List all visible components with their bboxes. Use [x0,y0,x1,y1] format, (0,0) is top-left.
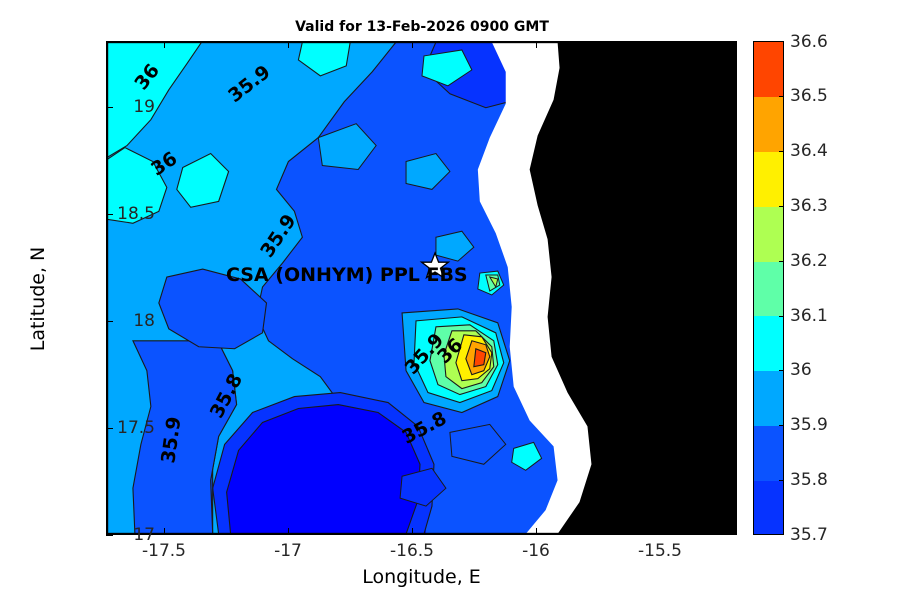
colorbar-tick-label: 36.2 [790,251,828,271]
colorbar-tick-label: 36.4 [790,141,828,161]
colorbar-tick-label: 35.9 [790,415,828,435]
colorbar-tick-mark [779,261,784,262]
colorbar-band-36_1-36_2 [754,262,783,317]
colorbar-tick-mark [779,206,784,207]
ytick-mark-right [730,321,737,322]
xtick-mark-top [536,41,537,48]
colorbar-tick-mark [779,480,784,481]
xtick-mark-top [164,41,165,48]
contour-plot-area[interactable]: 36 35.9 36 35.9 35.9 36 35.9 35.8 35.8 C… [106,41,737,535]
colorbar-tick-label: 36.6 [790,32,828,52]
xtick-label: -16 [522,541,550,561]
y-axis-title: Latitude, N [27,199,49,399]
ytick-mark-right [730,214,737,215]
ytick-label: 19 [133,97,155,117]
colorbar-band-36_3-36_4 [754,152,783,207]
x-axis-title: Longitude, E [106,566,737,588]
colorbar-band-36_5-36_6 [754,42,783,97]
figure-canvas: Valid for 13-Feb-2026 0900 GMT [0,0,900,600]
ytick-label: 18 [133,311,155,331]
xtick-mark [288,528,289,535]
colorbar-tick-mark [779,96,784,97]
fan-band-36_5 [474,349,486,367]
ytick-mark [106,214,113,215]
colorbar-tick-mark [779,425,784,426]
colorbar-band-35_9-36_0 [754,371,783,426]
xtick-mark-top [288,41,289,48]
colorbar-tick-mark [779,316,784,317]
xtick-mark [164,528,165,535]
ytick-mark [106,428,113,429]
xtick-label: -15.5 [638,541,682,561]
colorbar-tick-label: 36.3 [790,196,828,216]
ytick-mark-right [730,428,737,429]
colorbar[interactable] [753,41,784,535]
colorbar-tick-mark [779,151,784,152]
ytick-label: 17 [133,525,155,545]
ytick-mark-right [730,107,737,108]
ytick-mark [106,535,113,536]
colorbar-band-36_0-36_1 [754,316,783,371]
colorbar-band-35_8-35_9 [754,426,783,481]
contour-band-35_7-sw-base [227,492,426,534]
ytick-mark [106,107,113,108]
colorbar-tick-label: 36.5 [790,86,828,106]
colorbar-band-36_2-36_3 [754,207,783,262]
xtick-mark [660,528,661,535]
colorbar-band-36_4-36_5 [754,97,783,152]
xtick-mark [412,528,413,535]
colorbar-tick-label: 36 [790,360,812,380]
colorbar-tick-label: 36.1 [790,306,828,326]
contour-map-svg [107,42,736,534]
colorbar-tick-label: 35.7 [790,525,828,545]
ytick-label: 17.5 [117,418,155,438]
ytick-label: 18.5 [117,204,155,224]
colorbar-band-35_7-35_8 [754,481,783,535]
xtick-label: -16.5 [390,541,434,561]
station-label: CSA (ONHYM) PPL EBS [226,264,468,286]
colorbar-tick-mark [779,370,784,371]
ytick-mark [106,321,113,322]
xtick-mark-top [412,41,413,48]
xtick-mark-top [660,41,661,48]
colorbar-tick-label: 35.8 [790,470,828,490]
xtick-mark [536,528,537,535]
xtick-label: -17 [274,541,302,561]
page-title: Valid for 13-Feb-2026 0900 GMT [106,19,738,35]
